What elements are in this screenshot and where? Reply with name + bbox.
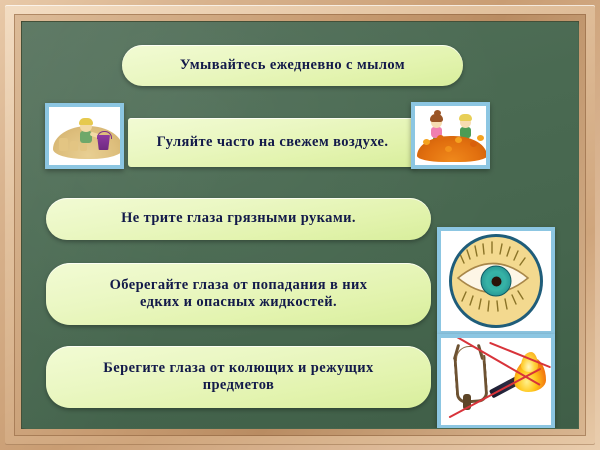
leaf-icon-4	[470, 141, 477, 147]
rule-text-4-line-2: едких и опасных жидкостей.	[110, 294, 368, 311]
photo-eye-illustration	[437, 227, 555, 335]
photo-eye-content	[441, 231, 551, 331]
rule-text-5: Берегите глаза от колющих и режущих пред…	[103, 360, 373, 394]
sandcastle-tower-2	[70, 141, 78, 151]
boy-hair-shape	[459, 114, 472, 121]
rule-plaque-5: Берегите глаза от колющих и режущих пред…	[46, 346, 431, 408]
rule-text-5-line-1: Берегите глаза от колющих и режущих	[103, 360, 373, 377]
sandcastle-tower-3	[80, 143, 87, 151]
girl-hair-bun-shape	[434, 110, 441, 116]
rule-plaque-3: Не трите глаза грязными руками.	[46, 198, 431, 240]
leaf-icon-1	[423, 139, 430, 145]
rule-text-4: Оберегайте глаза от попадания в них едки…	[110, 277, 368, 311]
iris-shape	[481, 266, 512, 297]
leaf-icon-6	[477, 135, 484, 141]
leaf-icon-5	[445, 146, 452, 152]
child-hair-shape	[79, 118, 93, 125]
rule-text-5-line-2: предметов	[103, 377, 373, 394]
bucket-icon	[97, 135, 110, 150]
rule-plaque-1: Умывайтесь ежедневно с мылом	[122, 45, 463, 86]
chalkboard: Умывайтесь ежедневно с мылом Гуляйте час…	[22, 22, 578, 428]
rule-text-2: Гуляйте часто на свежем воздухе.	[157, 134, 389, 151]
sandcastle-tower-1	[59, 138, 68, 151]
rule-text-3: Не трите глаза грязными руками.	[121, 210, 356, 227]
photo-sandbox-content	[49, 107, 120, 165]
rule-plaque-4: Оберегайте глаза от попадания в них едки…	[46, 263, 431, 325]
eye-icon	[449, 234, 543, 328]
photo-dangerous-objects	[437, 334, 555, 428]
pupil-shape	[491, 276, 501, 286]
photo-autumn-leaves	[411, 102, 490, 169]
poster-stage: Умывайтесь ежедневно с мылом Гуляйте час…	[0, 0, 600, 450]
rule-text-1: Умывайтесь ежедневно с мылом	[180, 57, 405, 74]
photo-sandbox	[45, 103, 124, 169]
leaf-icon-2	[437, 135, 444, 141]
rule-plaque-2: Гуляйте часто на свежем воздухе.	[128, 118, 417, 167]
photo-danger-content	[441, 338, 551, 425]
rule-text-4-line-1: Оберегайте глаза от попадания в них	[110, 277, 368, 294]
photo-leaves-content	[415, 106, 486, 165]
leaf-icon-3	[455, 137, 462, 143]
